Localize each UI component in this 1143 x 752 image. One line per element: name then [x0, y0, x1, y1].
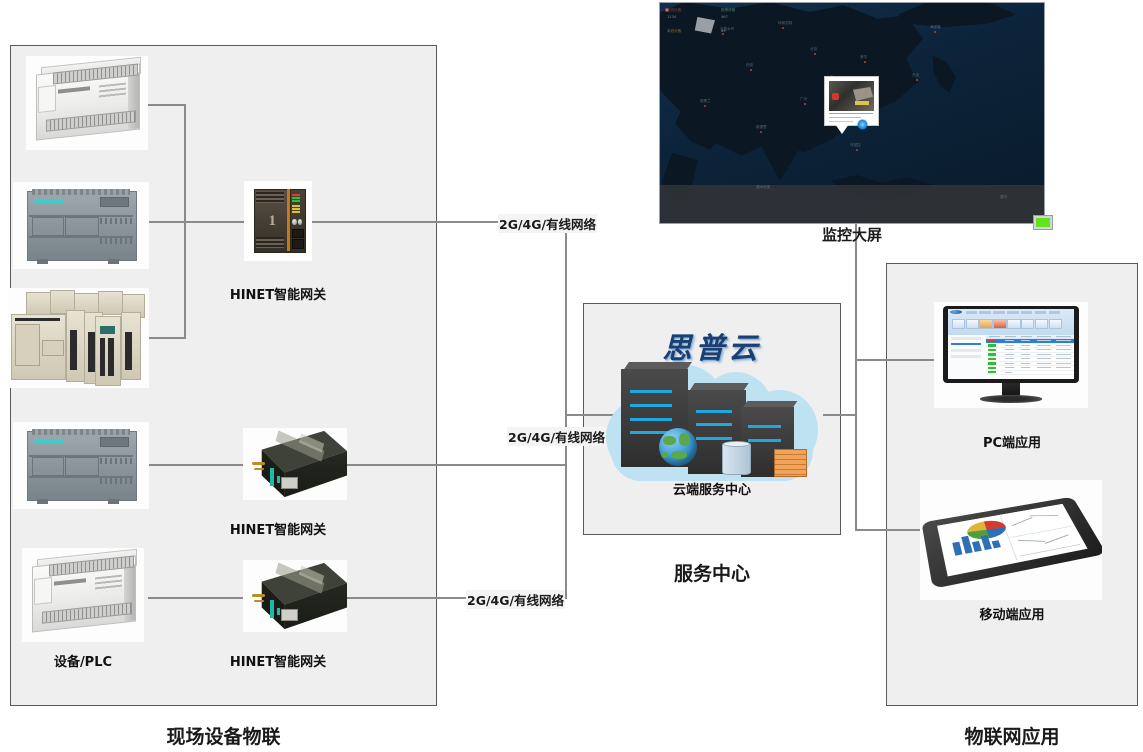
rack-slot — [696, 423, 732, 426]
link-gateway3-to-trunk — [345, 597, 467, 599]
monitoring-big-screen[interactable]: ■ 在线设备 报警设备 1234 567 离线设备 89 乌鲁木齐 呼和浩特 北… — [659, 2, 1045, 224]
plc-led-bank — [95, 575, 122, 593]
link-right-trunk-to-pc — [855, 359, 935, 361]
pc-app-logo-icon — [950, 310, 961, 314]
pc-stand-neck — [1002, 383, 1020, 397]
rack-slot — [630, 404, 672, 407]
gateway-ethernet-port — [281, 609, 298, 621]
cloud-brand-logo: 思普云 — [583, 325, 841, 367]
globe-icon — [659, 428, 697, 466]
gateway-ethernet-port-b — [292, 239, 304, 248]
plc-foot-right — [108, 499, 119, 503]
plc-vent — [32, 429, 130, 435]
link-plc-mid-to-gateway2 — [148, 464, 245, 466]
chart-line — [1012, 517, 1033, 526]
rack-slot — [696, 410, 732, 413]
link-plc-bottom-to-gateway3 — [148, 597, 245, 599]
link-right-trunk-vertical — [855, 222, 857, 530]
chart-line — [1018, 540, 1046, 542]
plc-vent — [32, 189, 130, 195]
plc-brand-label — [33, 199, 63, 203]
link-plc-top — [148, 104, 186, 106]
servo-unit-back-1 — [26, 292, 51, 316]
device-mobile-application — [920, 480, 1102, 600]
chart-bar — [992, 540, 1001, 548]
servo-amp-3-display — [100, 326, 116, 334]
map-card-photo — [829, 81, 874, 111]
zone-label-field: 现场设备物联 — [10, 722, 437, 749]
link-servo-stack — [148, 337, 186, 339]
pc-app-ribbon — [948, 309, 1074, 335]
servo-amp-1-slot — [70, 330, 77, 370]
rack-slot — [748, 439, 781, 442]
chart-bar — [972, 541, 982, 552]
chart-bar — [952, 541, 962, 555]
gateway-status-bar — [270, 468, 274, 485]
plc-module-b — [65, 457, 100, 476]
device-mitsubishi-plc-bottom — [22, 548, 144, 642]
plc-display — [100, 197, 129, 208]
gateway-antenna-connector — [252, 462, 264, 466]
plc-foot-right — [108, 259, 119, 263]
map-card-line — [829, 113, 873, 114]
gateway-ethernet-port-a — [292, 229, 304, 238]
zone-label-service: 服务中心 — [583, 559, 841, 586]
plc-module-a — [32, 457, 64, 476]
device-pc-application — [934, 302, 1088, 408]
plc-module-b — [65, 217, 100, 236]
device-hinet-gateway-box-2 — [243, 560, 347, 632]
caption-gateway-box-1: HINET智能网关 — [210, 519, 346, 538]
gateway-status-dot — [277, 608, 280, 615]
device-mitsubishi-plc-top — [26, 56, 148, 150]
link-label-bottom: 2G/4G/有线网络 — [466, 590, 565, 609]
device-siemens-plc-mid — [13, 422, 149, 509]
plc-module-a — [32, 217, 64, 236]
rack-slot — [696, 437, 732, 440]
firewall-icon — [774, 449, 807, 477]
link-gateway2-to-trunk — [345, 464, 566, 466]
plc-terminal-row-a — [100, 458, 133, 464]
caption-device-plc: 设备/PLC — [22, 651, 144, 670]
device-siemens-plc-upper — [13, 182, 149, 269]
plc-foot-left — [37, 499, 48, 503]
gateway-vent-top — [256, 192, 285, 203]
rack-slot — [630, 418, 672, 421]
pc-screen — [948, 309, 1074, 379]
caption-cloud-service-center: 云端服务中心 — [583, 479, 841, 498]
link-bus-to-gateway1 — [148, 221, 244, 223]
gateway-vent-bottom — [256, 237, 285, 248]
caption-gateway-box-2: HINET智能网关 — [210, 651, 346, 670]
gateway-marking: 1 — [268, 213, 276, 230]
gateway-led-power — [292, 194, 301, 196]
plc-display — [100, 437, 129, 448]
link-trunk-vertical — [565, 221, 567, 599]
rack-slot — [748, 425, 781, 428]
gateway-status-bar — [270, 600, 274, 617]
servo-plc-stripe — [15, 318, 60, 321]
tablet-screen — [937, 504, 1088, 577]
zone-label-apps: 物联网应用 — [886, 722, 1138, 749]
chart-bar — [961, 536, 972, 554]
plc-led-bank — [99, 83, 126, 101]
gateway-led-sig-3 — [292, 211, 301, 213]
plc-terminal-row-a — [100, 218, 133, 224]
gateway-led-net — [292, 200, 301, 202]
chart-line — [1045, 534, 1069, 543]
plc-access-door — [34, 577, 52, 605]
gateway-led-sig-1 — [292, 205, 301, 207]
chart-line — [1030, 515, 1059, 516]
gateway-antenna-connector — [252, 594, 264, 598]
map-card-line — [829, 121, 853, 122]
servo-plc-door — [15, 324, 40, 366]
diagram-canvas: 2G/4G/有线网络 2G/4G/有线网络 2G/4G/有线网络 — [0, 0, 1143, 752]
rack-slot — [630, 390, 672, 393]
plc-foot-left — [37, 259, 48, 263]
pc-stand-base — [980, 395, 1042, 402]
map-bottom-strip — [660, 185, 1044, 223]
servo-plc-terminal — [42, 340, 64, 356]
gateway-status-dot — [277, 476, 280, 483]
caption-gateway-din: HINET智能网关 — [210, 284, 346, 303]
map-card-tail — [835, 124, 849, 134]
device-servo-drive-stack — [8, 288, 149, 388]
chart-axis — [1021, 544, 1080, 556]
tablet-shell — [922, 497, 1102, 589]
caption-monitoring-screen: 监控大屏 — [659, 224, 1045, 245]
caption-mobile-application: 移动端应用 — [886, 604, 1138, 623]
plc-terminal-row-b — [100, 478, 133, 484]
caption-pc-application: PC端应用 — [886, 432, 1138, 451]
gateway-led-sig-2 — [292, 208, 301, 210]
link-label-top: 2G/4G/有线网络 — [498, 214, 597, 233]
map-location-pulse — [857, 119, 868, 130]
plc-access-door — [38, 85, 56, 113]
plc-terminal-row-b — [100, 238, 133, 244]
servo-amp-4-slot — [125, 332, 132, 370]
servo-amp-2-slot — [88, 332, 95, 372]
servo-amp-3-slot-b — [108, 338, 114, 376]
map-card-line — [829, 117, 861, 118]
map-legend: ■ 在线设备 报警设备 1234 567 离线设备 89 — [665, 7, 795, 43]
pc-tree-sidebar — [948, 335, 987, 380]
device-hinet-gateway-din: 1 — [244, 181, 312, 261]
gateway-ethernet-port — [281, 477, 298, 489]
gateway-led-run — [292, 197, 301, 199]
database-icon — [722, 442, 751, 475]
map-info-card[interactable] — [824, 76, 879, 126]
pc-status-table — [986, 335, 1074, 380]
gateway-antenna-knob-a — [292, 219, 297, 225]
servo-amp-3-slot-a — [100, 338, 106, 376]
device-hinet-gateway-box-1 — [243, 428, 347, 500]
plc-brand-label — [33, 439, 63, 443]
